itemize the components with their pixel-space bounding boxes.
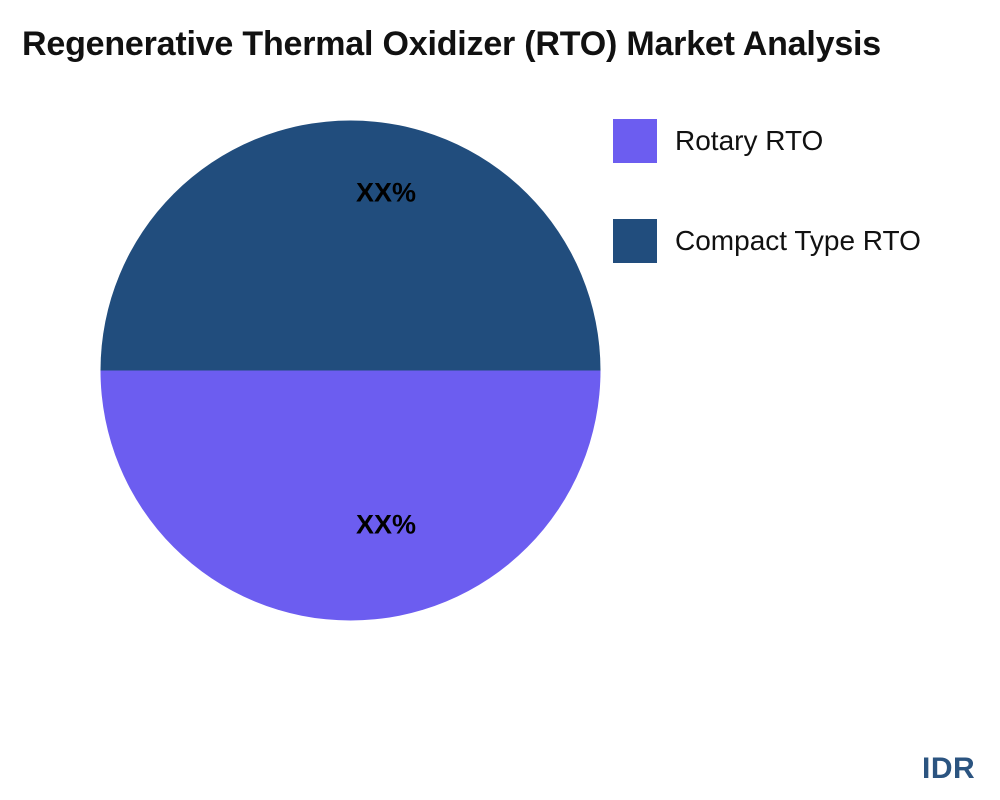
watermark-idr: IDR [922, 752, 975, 786]
pie-slice-label-rotary-rto: XX% [356, 510, 416, 541]
legend: Rotary RTO Compact Type RTO [613, 118, 1000, 318]
pie-slice-rotary-rto[interactable] [101, 371, 601, 621]
legend-label-compact-type-rto: Compact Type RTO [675, 226, 921, 256]
pie-slice-label-compact-type-rto: XX% [356, 178, 416, 209]
pie-svg [100, 120, 601, 621]
chart-canvas: Regenerative Thermal Oxidizer (RTO) Mark… [0, 0, 1000, 800]
chart-title: Regenerative Thermal Oxidizer (RTO) Mark… [22, 24, 881, 64]
legend-item-rotary-rto[interactable]: Rotary RTO [613, 118, 1000, 163]
legend-swatch-rotary-rto [613, 119, 657, 163]
legend-item-compact-type-rto[interactable]: Compact Type RTO [613, 218, 1000, 263]
legend-label-rotary-rto: Rotary RTO [675, 126, 823, 156]
pie-slice-compact-type-rto[interactable] [101, 121, 601, 371]
legend-swatch-compact-type-rto [613, 219, 657, 263]
pie-chart: XX% XX% [100, 120, 601, 621]
